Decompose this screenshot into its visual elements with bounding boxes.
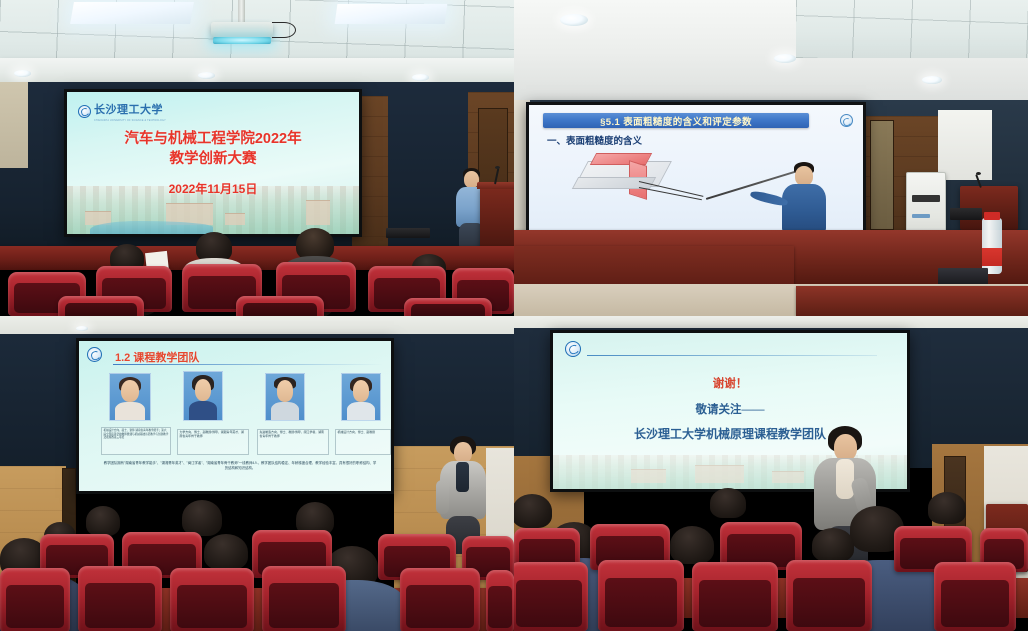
auditorium-seat: [692, 562, 778, 631]
university-emblem-icon: [840, 114, 853, 127]
slide-subheader: 一、表面粗糙度的含义: [547, 133, 642, 147]
slide-title: 1.2 课程教学团队: [115, 349, 199, 365]
team-member-bio: 先进制造方向，博士、教授/博导，闽江学者，湖南省青年骨干教师: [257, 429, 329, 455]
team-member-bio-text: 机械设计方向，博士、副教授: [338, 431, 389, 435]
university-emblem-icon: [565, 341, 581, 357]
auditorium-seat: [514, 562, 588, 631]
projector-lens: [213, 37, 271, 44]
auditorium-seat: [404, 298, 492, 316]
audience-head: [182, 500, 222, 536]
bottle-cap: [984, 212, 1000, 220]
slide-opening: 长沙理工大学 CHANGSHA UNIVERSITY OF SCIENCE & …: [67, 92, 359, 234]
lectern: [480, 186, 514, 254]
title-underline: [113, 364, 383, 365]
university-emblem-icon: [78, 105, 91, 118]
team-member-bio: 机械设计方向，博士、副教授: [335, 429, 391, 455]
auditorium-seat: [598, 560, 684, 631]
slide-date: 2022年11月15日: [67, 180, 359, 197]
auditorium-seat: [0, 568, 70, 631]
projection-screen: 1.2 课程教学团队: [76, 338, 394, 494]
slide-section-header: §5.1 表面粗糙度的含义和评定参数: [543, 113, 809, 128]
auditorium-seat: [236, 296, 324, 316]
auditorium-seat: [262, 566, 346, 631]
team-member-bio-text: 机械设计方向，硕士、讲师 湖南省青年教学能手；第六届全国高等学校教师微课与机械基…: [104, 429, 169, 440]
panel-bottom-right: 谢谢！ 敬请关注—— 长沙理工大学机械原理课程教学团队: [514, 316, 1028, 631]
downlight: [922, 76, 942, 84]
presenter-laptop: [950, 208, 982, 220]
audience-head: [514, 494, 552, 528]
ceiling-soffit: [0, 58, 514, 84]
microphone-head: [495, 166, 500, 169]
turtleneck: [836, 459, 854, 499]
microphone-head: [976, 172, 981, 175]
side-wall: [0, 82, 28, 168]
projector-cable: [272, 22, 296, 38]
panel-top-left: 长沙理工大学 CHANGSHA UNIVERSITY OF SCIENCE & …: [0, 0, 514, 316]
team-summary-text: 教学团队拥有"湖南省青年教学能手"、"湖湘青年英才"、"闽江学者"、"湖南省青年…: [103, 461, 377, 471]
university-logo: 长沙理工大学 CHANGSHA UNIVERSITY OF SCIENCE & …: [78, 100, 166, 122]
downlight: [774, 54, 796, 63]
audience-head: [812, 528, 854, 562]
ceiling-tiles: [796, 0, 1028, 58]
panel-top-right: §5.1 表面粗糙度的含义和评定参数 一、表面粗糙度的含义: [514, 0, 1028, 316]
university-logo-text: 长沙理工大学: [94, 104, 163, 116]
auditorium-seat: [786, 560, 872, 631]
downlight: [198, 72, 215, 79]
auditorium-seat: [934, 562, 1016, 631]
slide-teaching-team: 1.2 课程教学团队: [79, 341, 391, 491]
projector-body: [211, 22, 273, 38]
projector-mount-stem: [238, 0, 245, 22]
audience-head: [204, 534, 248, 570]
panel-bottom-left: 1.2 课程教学团队: [0, 316, 514, 631]
downlight: [412, 74, 429, 81]
downlight: [14, 70, 31, 77]
downlight: [560, 14, 588, 26]
inner-top: [456, 462, 469, 492]
audience-head: [710, 488, 746, 518]
audience-head: [86, 506, 120, 536]
university-emblem-icon: [87, 347, 102, 362]
auditorium-seat: [400, 568, 480, 631]
team-member-photo: [265, 373, 305, 421]
team-member-bio: 机械设计方向，硕士、讲师 湖南省青年教学能手；第六届全国高等学校教师微课与机械基…: [101, 427, 171, 455]
bottle-label: [982, 248, 1002, 266]
thanks-line-2: 敬请关注——: [553, 401, 907, 417]
audience-head: [670, 526, 714, 564]
thanks-line-1: 谢谢！: [553, 375, 907, 391]
projection-screen: 长沙理工大学 CHANGSHA UNIVERSITY OF SCIENCE & …: [64, 89, 362, 237]
auditorium-seat: [486, 570, 514, 631]
team-member-photo: [341, 373, 381, 421]
photo-collage-2x2: 长沙理工大学 CHANGSHA UNIVERSITY OF SCIENCE & …: [0, 0, 1028, 631]
team-member-bio: 力学方向，博士、副教授/博导，湖湘青年英才、湖南省青年骨干教师: [177, 429, 249, 455]
auditorium-seat: [170, 568, 254, 631]
side-wall-panel: [938, 110, 992, 180]
slide-title: 汽车与机械工程学院2022年 教学创新大赛: [67, 130, 359, 169]
university-logo-subtext: CHANGSHA UNIVERSITY OF SCIENCE & TECHNOL…: [94, 119, 166, 122]
side-door: [870, 120, 894, 230]
downlight: [76, 326, 88, 331]
header-rule: [587, 355, 877, 356]
team-member-photo: [183, 371, 223, 421]
team-member-bio-text: 先进制造方向，博士、教授/博导，闽江学者，湖南省青年骨干教师: [260, 431, 327, 439]
auditorium-seat: [58, 296, 144, 316]
surface-diagram-highlight: [590, 153, 652, 165]
ceiling-panel-light: [70, 2, 194, 24]
team-member-photo: [109, 373, 151, 421]
auditorium-seat: [78, 566, 162, 631]
front-desk-rail: [796, 286, 1028, 316]
slide-section-header-text: §5.1 表面粗糙度的含义和评定参数: [600, 114, 752, 128]
team-member-bio-text: 力学方向，博士、副教授/博导，湖湘青年英才、湖南省青年骨干教师: [180, 431, 247, 439]
ceiling-panel-light: [335, 4, 448, 24]
presenter-laptop: [386, 228, 430, 238]
audience-head: [928, 492, 966, 524]
